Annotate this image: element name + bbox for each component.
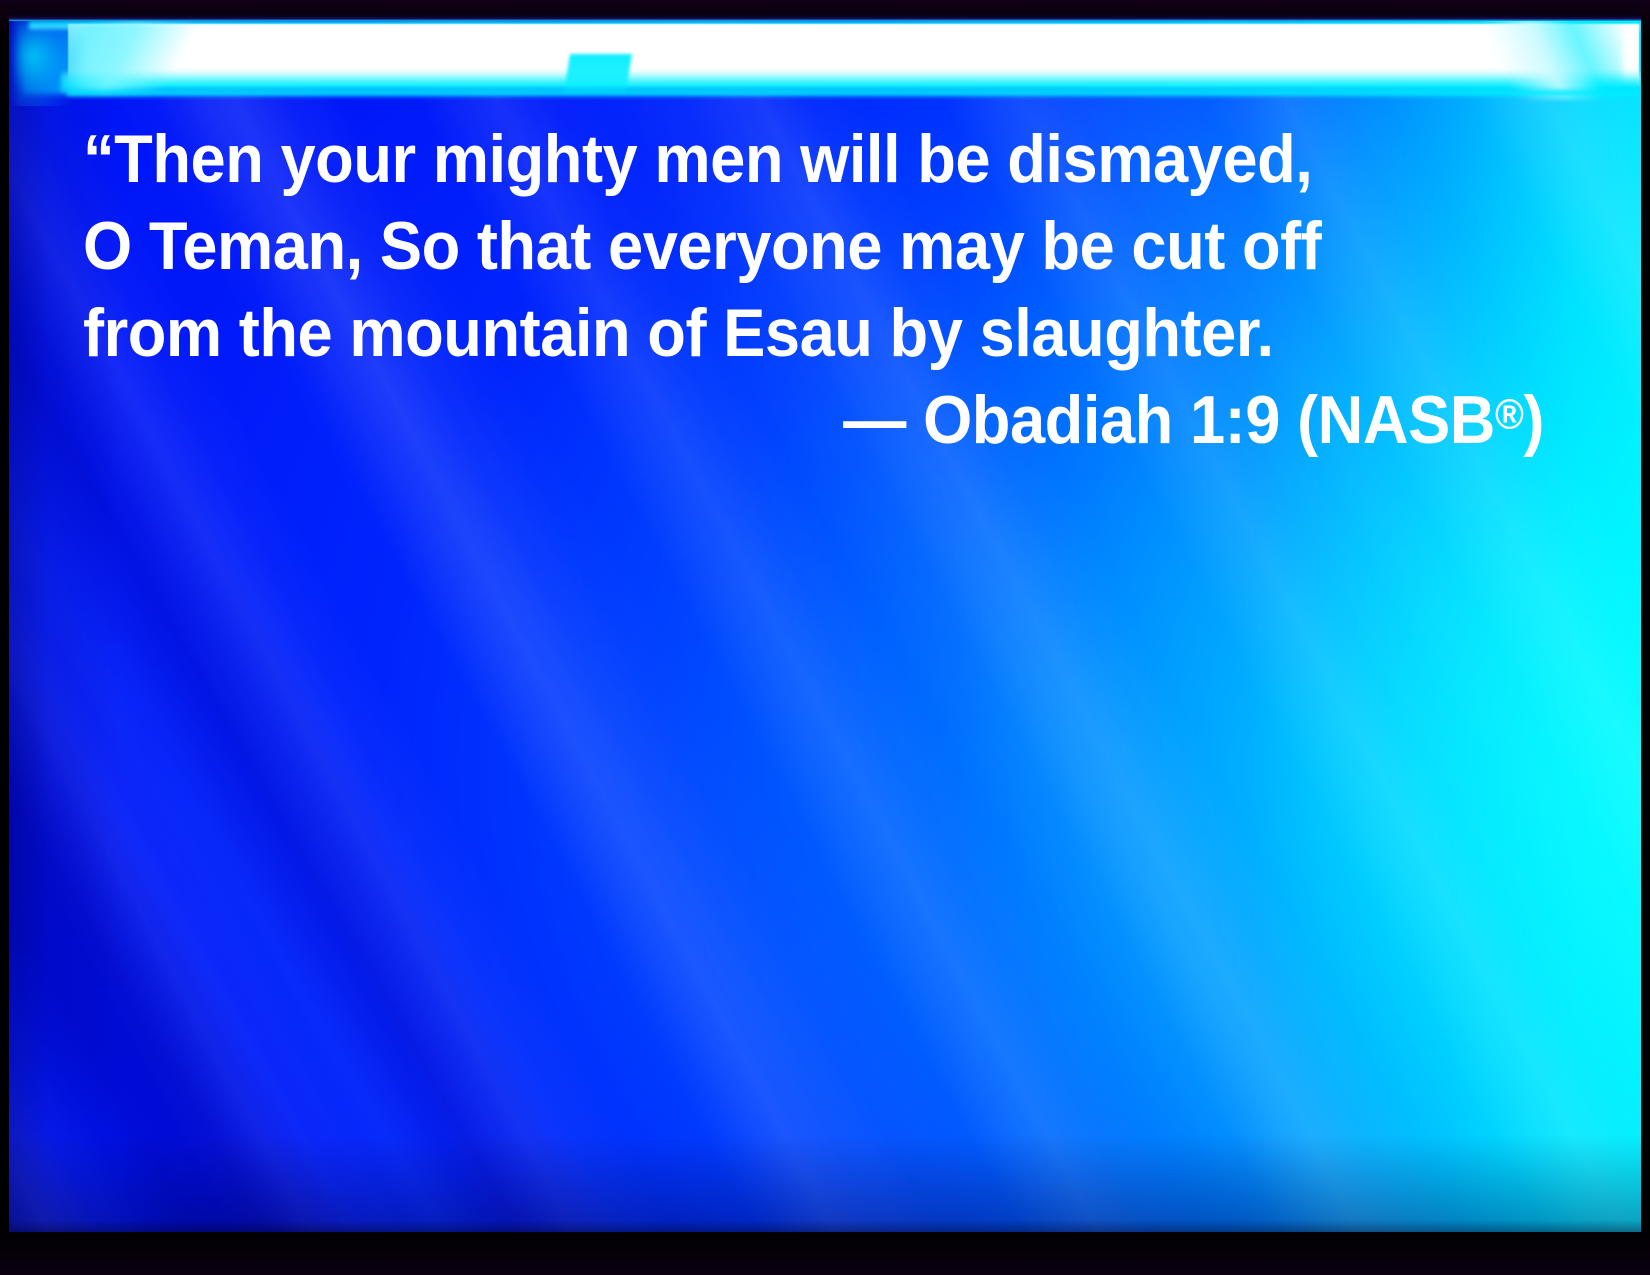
registered-trademark-icon: ®: [1495, 391, 1523, 438]
attribution-reference: 1:9: [1190, 382, 1280, 458]
attribution-close-paren: ): [1523, 382, 1544, 458]
band-cyan-notch: [564, 54, 632, 92]
attribution-open-paren: (: [1297, 382, 1318, 458]
band-cyan-bottom-edge: [61, 70, 1641, 92]
attribution-dash: —: [843, 382, 906, 458]
band-right-wedge: [1453, 20, 1623, 98]
verse-line-2: O Teman, So that everyone may be cut off: [83, 203, 1504, 290]
slide-picture-area: “Then your mighty men will be dismayed, …: [9, 10, 1641, 1232]
top-highlight-band: [9, 10, 1641, 106]
verse-slide: “Then your mighty men will be dismayed, …: [0, 0, 1650, 1275]
attribution-book: Obadiah: [923, 382, 1173, 458]
band-top-dark-strip: [9, 10, 1641, 21]
verse-attribution: — Obadiah 1:9 (NASB®): [190, 377, 1611, 464]
verse-line-1: “Then your mighty men will be dismayed,: [83, 116, 1504, 203]
attribution-translation: NASB: [1318, 382, 1495, 458]
verse-line-3: from the mountain of Esau by slaughter.: [83, 290, 1504, 377]
band-underline: [67, 90, 1641, 96]
verse-text-block: “Then your mighty men will be dismayed, …: [9, 116, 1641, 464]
